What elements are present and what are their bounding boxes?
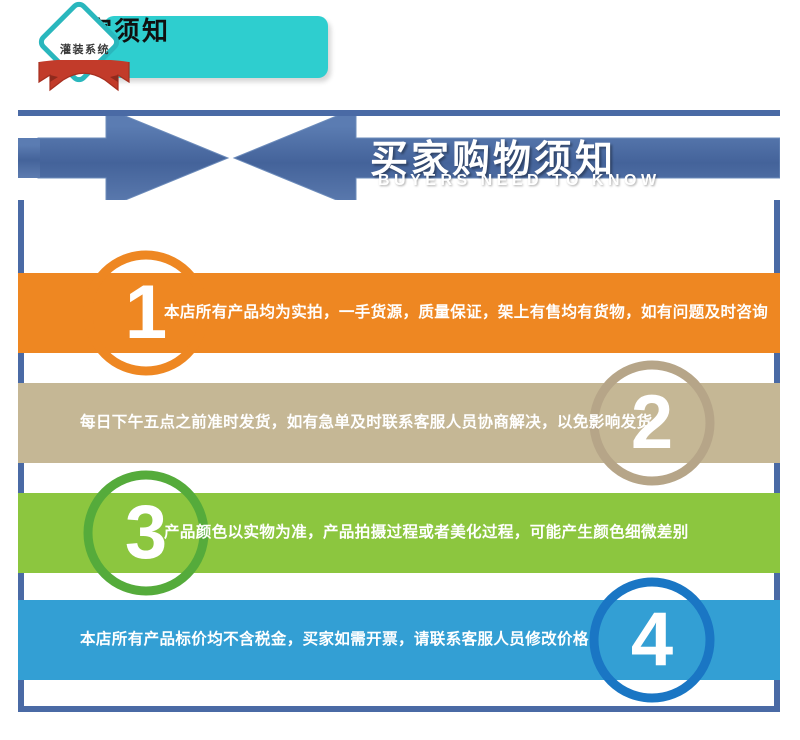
top-header-strip: 买家须知 灌装系统 xyxy=(0,0,800,96)
notice-row: 2 每日下午五点之前准时发货，如有急单及时联系客服人员协商解决，以免影响发货 xyxy=(18,383,780,463)
ribbon-icon xyxy=(37,60,131,94)
brand-badge: 灌装系统 xyxy=(30,5,138,95)
banner-header: 买家购物须知 BUYERS NEED TO KNOW xyxy=(18,116,780,200)
notice-row: 4 本店所有产品标价均不含税金，买家如需开票，请联系客服人员修改价格 xyxy=(18,600,780,680)
notice-text: 每日下午五点之前准时发货，如有急单及时联系客服人员协商解决，以免影响发货 xyxy=(80,383,652,463)
notice-row: 1 本店所有产品均为实拍，一手货源，质量保证，架上有售均有货物，如有问题及时咨询 xyxy=(18,273,780,353)
notice-number: 4 xyxy=(586,602,718,678)
brand-badge-label: 灌装系统 xyxy=(38,41,132,57)
banner-title-en: BUYERS NEED TO KNOW xyxy=(378,172,661,190)
notice-text: 本店所有产品标价均不含税金，买家如需开票，请联系客服人员修改价格 xyxy=(80,600,589,680)
notice-row: 3 产品颜色以实物为准，产品拍摄过程或者美化过程，可能产生颜色细微差别 xyxy=(18,493,780,573)
notice-text: 产品颜色以实物为准，产品拍摄过程或者美化过程，可能产生颜色细微差别 xyxy=(164,493,689,573)
buyer-notice-page: 买家须知 灌装系统 xyxy=(0,0,800,740)
notice-text: 本店所有产品均为实拍，一手货源，质量保证，架上有售均有货物，如有问题及时咨询 xyxy=(164,273,768,353)
